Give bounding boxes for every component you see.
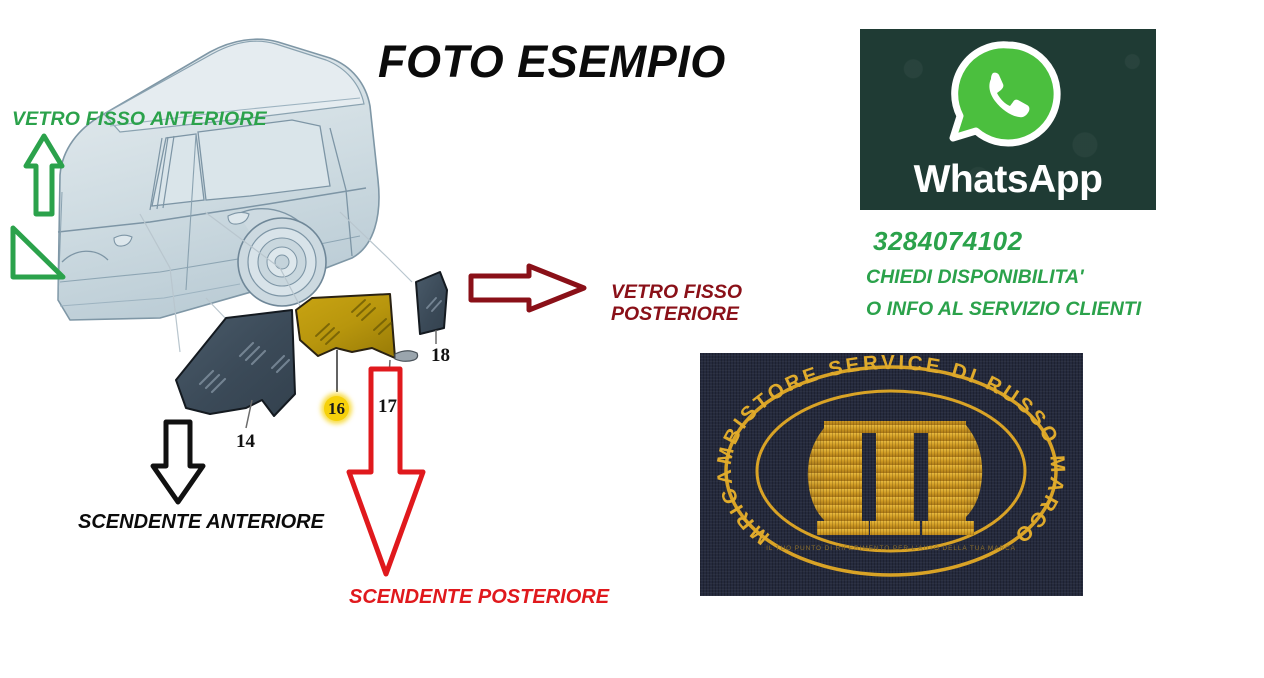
label-line-2: POSTERIORE xyxy=(611,303,742,325)
arrow-up-green xyxy=(26,136,62,214)
logo-monogram xyxy=(808,421,982,535)
triangle-green xyxy=(13,228,63,277)
glass-part-18 xyxy=(416,272,447,344)
exploded-parts-diagram xyxy=(0,0,700,640)
contact-line-1: CHIEDI DISPONIBILITA' xyxy=(866,266,1084,289)
car-illustration xyxy=(58,39,379,320)
glass-part-14 xyxy=(176,310,295,428)
shop-logo-graphic: MRICAMBISTORE SERVICE DI RUSSO MARCO xyxy=(700,353,1083,596)
screenshot-root: 14 16 17 18 FOTO ESEMPIO VETRO FISSO ANT… xyxy=(0,0,1264,678)
part-number-18: 18 xyxy=(431,345,450,367)
arrow-down-black xyxy=(153,422,203,502)
label-line-1: VETRO FISSO xyxy=(611,281,742,303)
label-vetro-fisso-posteriore: VETRO FISSO POSTERIORE xyxy=(611,281,742,326)
phone-number[interactable]: 3284074102 xyxy=(873,226,1023,257)
part-number-17: 17 xyxy=(378,396,397,418)
arrow-right-darkred xyxy=(471,266,584,310)
contact-line-2: O INFO AL SERVIZIO CLIENTI xyxy=(866,298,1141,321)
whatsapp-icon xyxy=(860,29,1156,169)
label-scendente-posteriore: SCENDENTE POSTERIORE xyxy=(349,586,609,609)
page-title: FOTO ESEMPIO xyxy=(378,36,726,88)
label-scendente-anteriore: SCENDENTE ANTERIORE xyxy=(78,511,324,534)
logo-subtext: IL TUO PUNTO DI RIFERIMENTO PER L'AUTO D… xyxy=(766,545,1016,552)
part-number-14: 14 xyxy=(236,431,255,453)
whatsapp-banner: WhatsApp xyxy=(860,29,1156,210)
label-vetro-fisso-anteriore: VETRO FISSO ANTERIORE xyxy=(12,108,267,130)
whatsapp-wordmark: WhatsApp xyxy=(860,158,1156,202)
part-number-16-badge: 16 xyxy=(324,396,349,421)
shop-logo: MRICAMBISTORE SERVICE DI RUSSO MARCO xyxy=(700,353,1083,596)
